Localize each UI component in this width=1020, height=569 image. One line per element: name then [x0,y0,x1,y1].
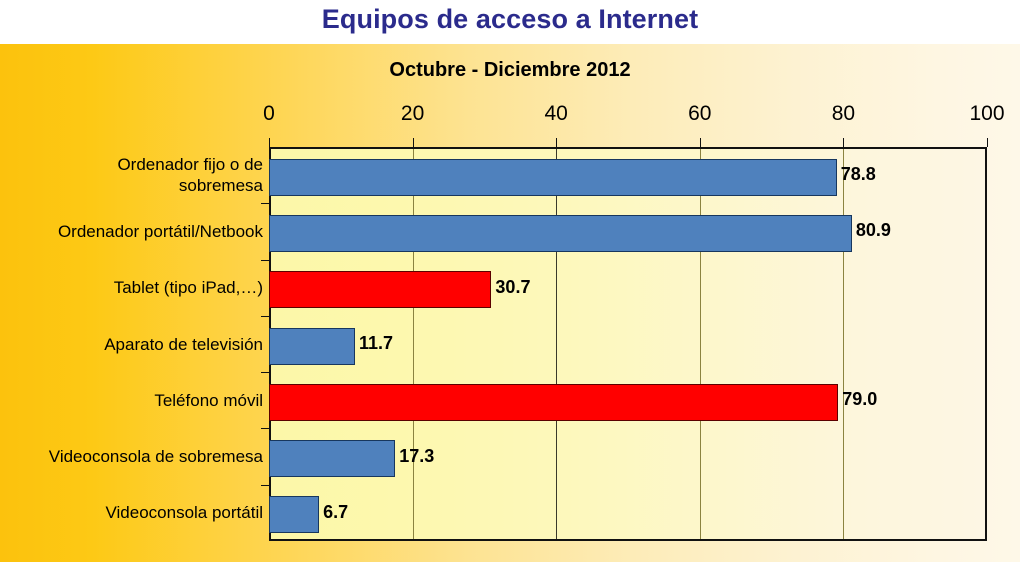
x-axis-tick [413,138,414,147]
gridline [843,149,844,539]
category-label: Videoconsola portátil [105,502,263,523]
bar-value-label: 80.9 [856,220,891,241]
bar [269,328,355,365]
x-axis-label: 0 [263,102,275,126]
chart-subtitle: Octubre - Diciembre 2012 [0,57,1020,83]
x-axis-tick [556,138,557,147]
x-axis-tick [987,138,988,147]
x-axis-tick [269,138,270,147]
bar-value-label: 17.3 [399,446,434,467]
category-label: Ordenador portátil/Netbook [58,221,263,242]
category-label: Ordenador fijo o de sobremesa [117,154,263,196]
chart-page: Equipos de acceso a Internet Octubre - D… [0,0,1020,569]
bar [269,215,852,252]
bar-value-label: 78.8 [841,164,876,185]
bar [269,271,491,308]
page-title: Equipos de acceso a Internet [0,1,1020,37]
gridline [700,149,701,539]
bar [269,159,837,196]
x-axis-label: 20 [401,102,424,126]
bar-value-label: 11.7 [359,333,393,354]
gridline [413,149,414,539]
x-axis-label: 40 [545,102,568,126]
bar [269,440,395,477]
bar-value-label: 6.7 [323,502,348,523]
category-label: Tablet (tipo iPad,…) [114,277,263,298]
chart-area: Octubre - Diciembre 2012 020406080100 Or… [0,44,1020,562]
category-label: Aparato de televisión [104,334,263,355]
bar [269,384,838,421]
category-label: Teléfono móvil [154,390,263,411]
x-axis-label: 80 [832,102,855,126]
bar-value-label: 30.7 [495,277,530,298]
bar [269,496,319,533]
bar-value-label: 79.0 [842,389,877,410]
x-axis-tick [700,138,701,147]
x-axis-label: 100 [969,102,1004,126]
category-label: Videoconsola de sobremesa [49,446,263,467]
gridline [556,149,557,539]
x-axis-tick [843,138,844,147]
x-axis-label: 60 [688,102,711,126]
